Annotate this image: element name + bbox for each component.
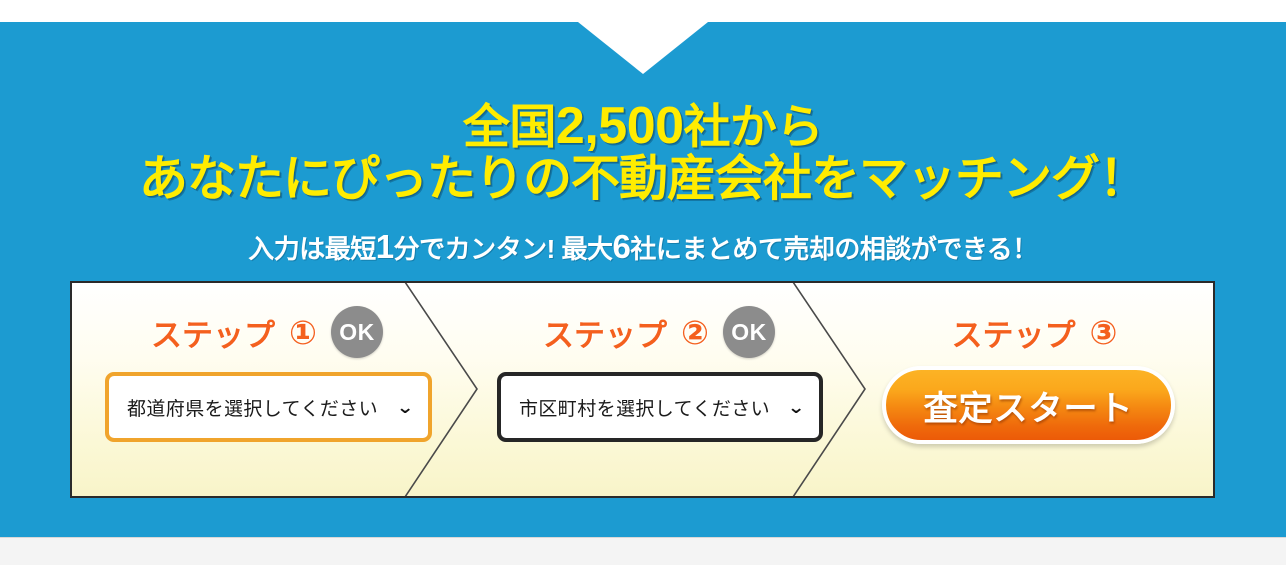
subheadline-part-a: 入力は最短 bbox=[248, 234, 376, 264]
step-3-label: ステップ bbox=[952, 310, 1076, 355]
headline-prefix: 全国 bbox=[463, 100, 556, 153]
step-column-2: ステップ ② OK 市区町村を選択してください ⌄ bbox=[464, 283, 854, 496]
steps-panel: ステップ ① OK 都道府県を選択してください ⌄ ステップ ② OK 市区町村… bbox=[70, 281, 1215, 498]
step-3-header: ステップ ③ bbox=[854, 306, 1215, 358]
headline-company-count: 2,500 bbox=[556, 97, 684, 155]
headline-line2: あなたにぴったりの不動産会社をマッチング！ bbox=[0, 153, 1286, 205]
step-1-header: ステップ ① OK bbox=[72, 306, 462, 358]
prefecture-select[interactable]: 都道府県を選択してください ⌄ bbox=[105, 372, 432, 442]
page-stage: 全国2,500社から あなたにぴったりの不動産会社をマッチング！ 入力は最短1分… bbox=[0, 0, 1286, 565]
step-2-ok-badge: OK bbox=[723, 306, 775, 358]
step-column-3: ステップ ③ 査定スタート bbox=[854, 283, 1215, 496]
step-2-header: ステップ ② OK bbox=[464, 306, 854, 358]
step-2-number: ② bbox=[681, 316, 709, 349]
prefecture-select-value: 都道府県を選択してください bbox=[127, 394, 392, 421]
headline-line1: 全国2,500社から bbox=[463, 100, 823, 153]
hero-subheadline: 入力は最短1分でカンタン! 最大6社にまとめて売却の相談ができる！ bbox=[0, 230, 1286, 266]
step-2-label: ステップ bbox=[543, 310, 667, 355]
step-1-label: ステップ bbox=[151, 310, 275, 355]
subheadline-max-companies: 6 bbox=[612, 228, 630, 265]
start-assessment-button[interactable]: 査定スタート bbox=[882, 366, 1175, 444]
chevron-down-icon: ⌄ bbox=[396, 399, 414, 416]
subheadline-part-c: 社にまとめて売却の相談ができる！ bbox=[630, 234, 1037, 264]
step-1-ok-badge: OK bbox=[331, 306, 383, 358]
hero-headline: 全国2,500社から あなたにぴったりの不動産会社をマッチング！ bbox=[0, 100, 1286, 205]
step-1-number: ① bbox=[289, 316, 317, 349]
subheadline-part-b: 分でカンタン! 最大 bbox=[394, 234, 613, 264]
municipality-select[interactable]: 市区町村を選択してください ⌄ bbox=[497, 372, 823, 442]
start-assessment-label: 査定スタート bbox=[924, 381, 1134, 430]
step-column-1: ステップ ① OK 都道府県を選択してください ⌄ bbox=[72, 283, 462, 496]
subheadline-minutes: 1 bbox=[376, 228, 394, 265]
step-3-number: ③ bbox=[1090, 316, 1118, 349]
page-bottom-strip bbox=[0, 537, 1286, 565]
municipality-select-value: 市区町村を選択してください bbox=[519, 394, 783, 421]
chevron-down-icon: ⌄ bbox=[787, 399, 805, 416]
headline-suffix: 社から bbox=[684, 100, 824, 153]
